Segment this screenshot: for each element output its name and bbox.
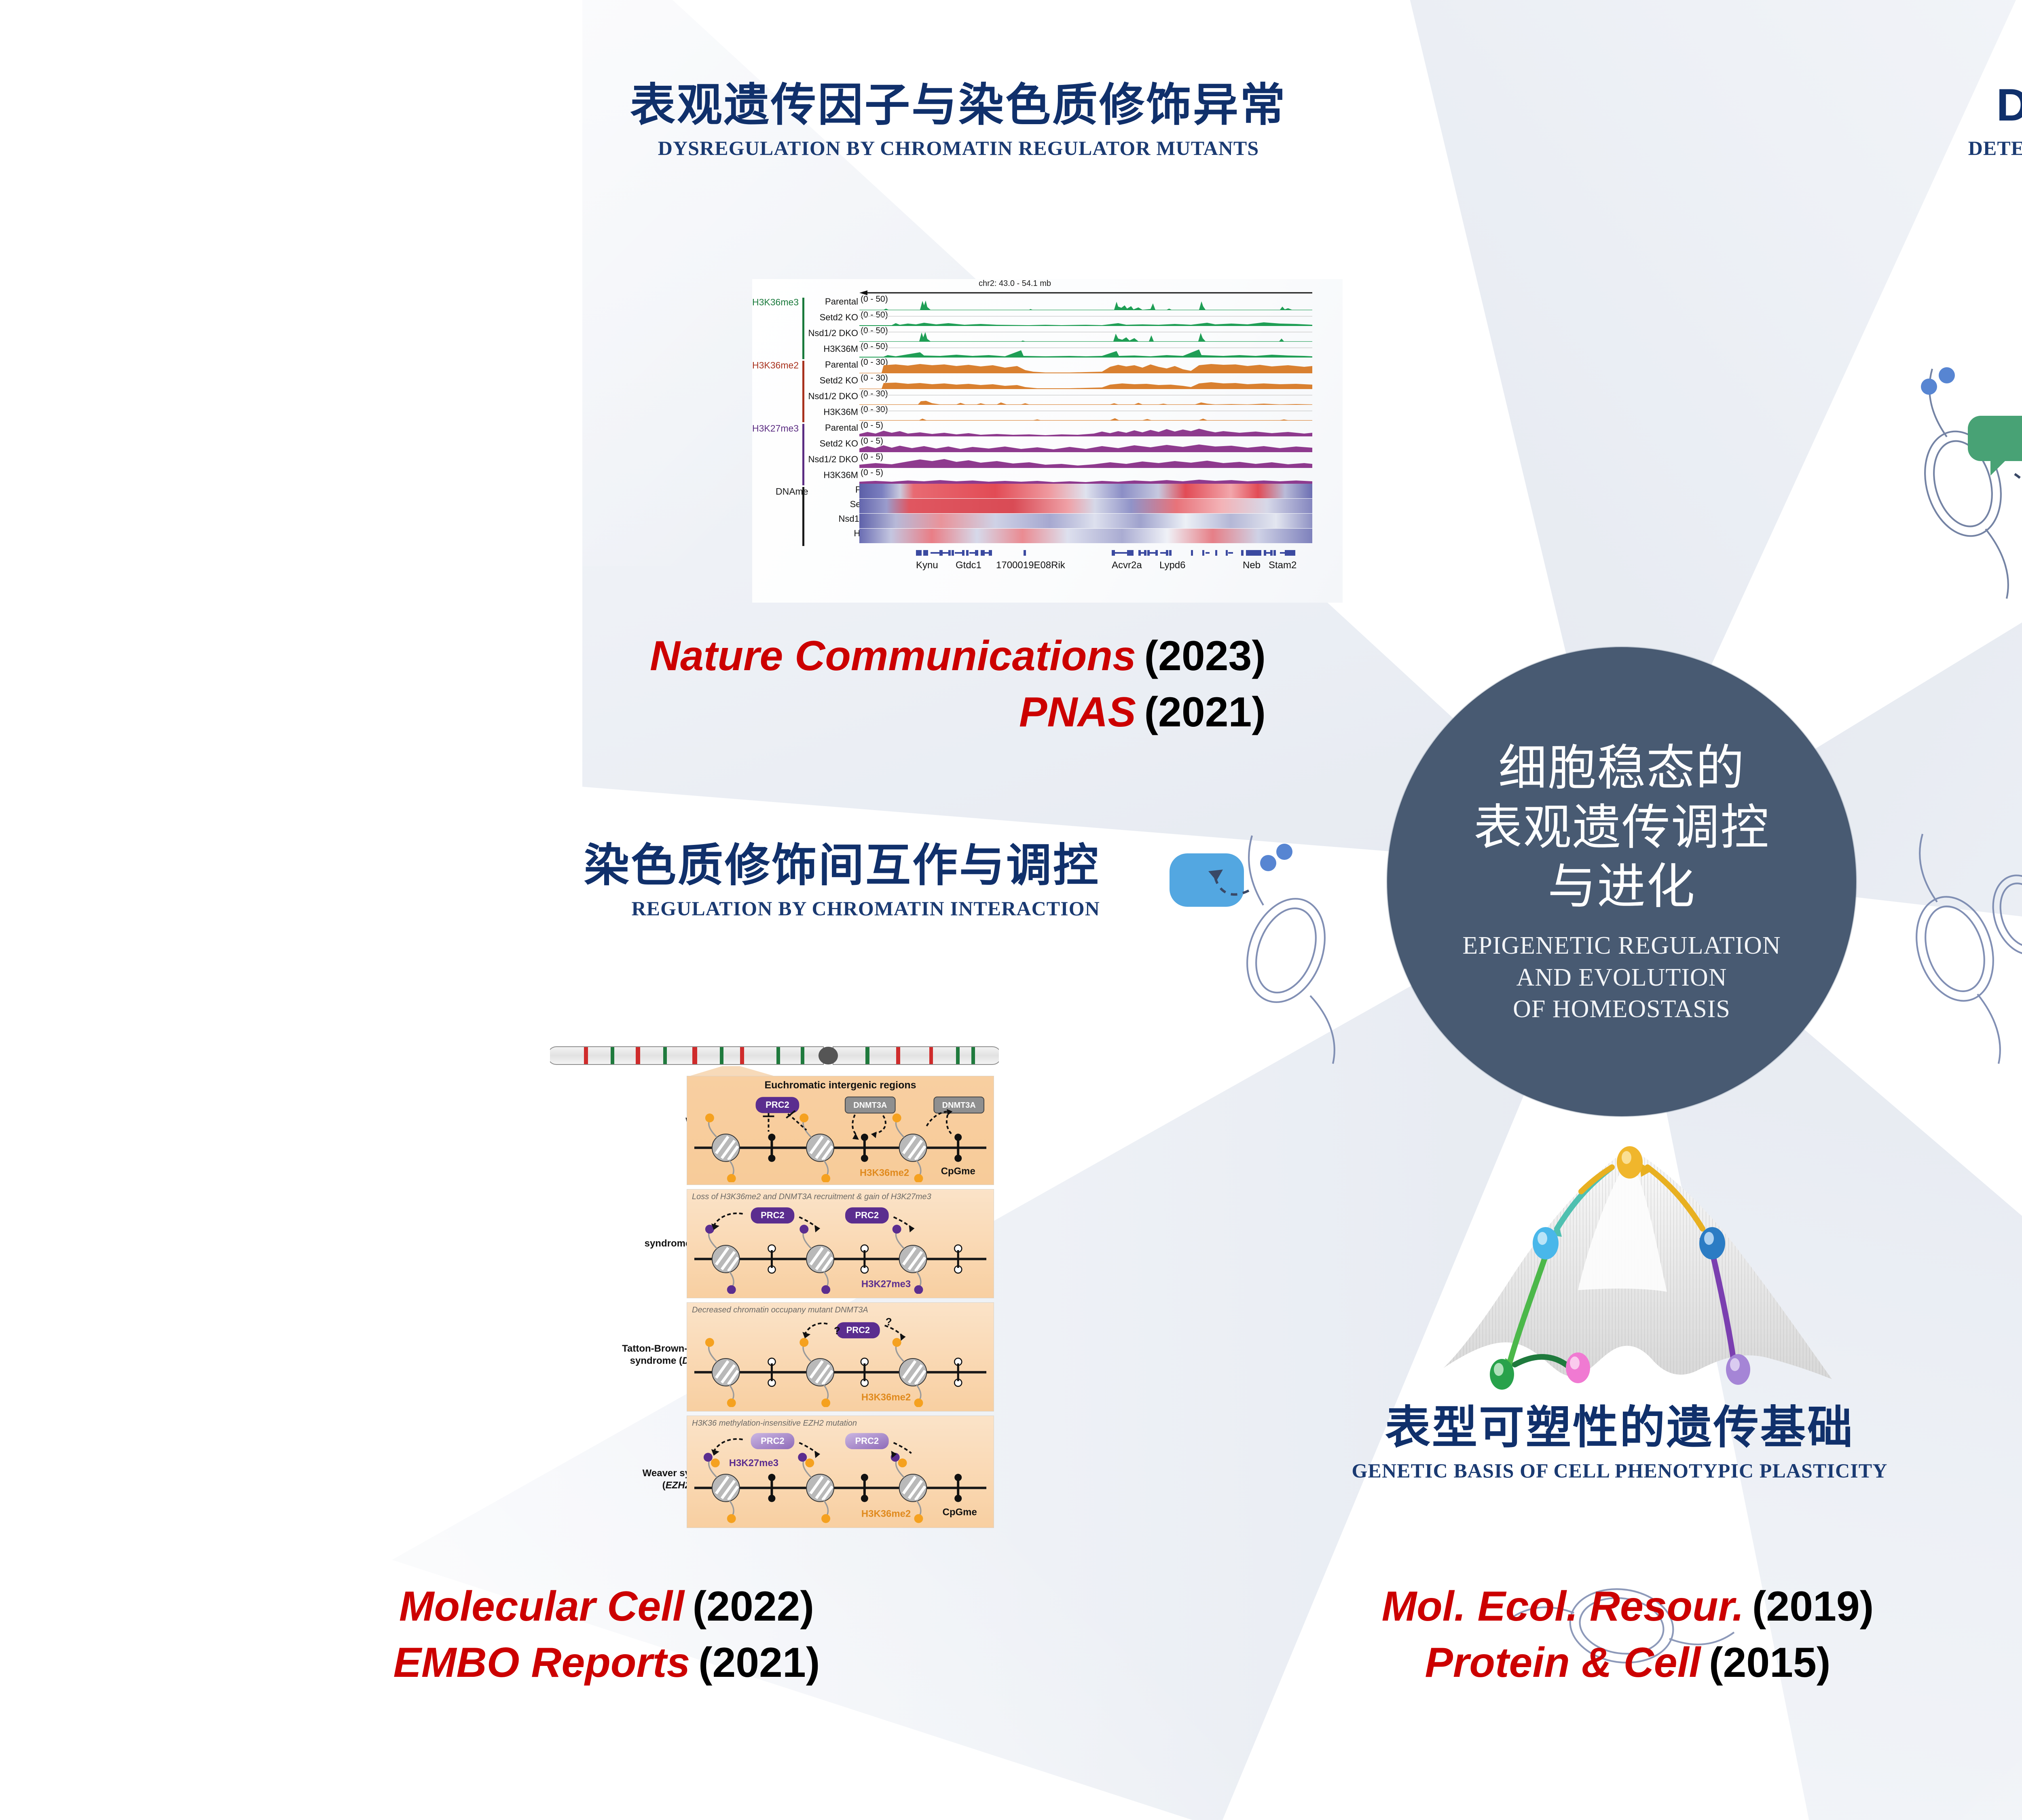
hub-title-en-line: AND EVOLUTION xyxy=(1462,962,1781,993)
track-signal xyxy=(859,473,1312,484)
section-subtitle-en: REGULATION BY CHROMATIN INTERACTION xyxy=(129,897,1100,920)
track-sample-label: Parental xyxy=(825,423,858,433)
track-signal xyxy=(859,300,1312,310)
panel-weaver: H3K36 methylation-insensitive EZH2 mutat… xyxy=(687,1416,994,1528)
citation-row: Nature Communications (2023) xyxy=(162,631,1266,681)
panel-sotos: Loss of H3K36me2 and DNMT3A recruitment … xyxy=(687,1189,994,1298)
svg-text:PRC2: PRC2 xyxy=(846,1325,870,1335)
tbrs-diagram: PRC2 ? ? H3K36me2 xyxy=(687,1315,994,1407)
track-signal xyxy=(859,315,1312,326)
section-heading-phenotypic-plasticity: 表型可塑性的遗传基础 GENETIC BASIS OF CELL PHENOTY… xyxy=(1165,1403,2022,1482)
row-label-text: ( xyxy=(662,1480,666,1491)
track-signal xyxy=(859,442,1312,452)
hub-title-en-line: EPIGENETIC REGULATION xyxy=(1462,930,1781,961)
wildtype-diagram: PRC2 DNMT3A DNMT3A xyxy=(687,1091,994,1182)
group-bracket xyxy=(802,487,804,546)
section-subtitle-en: DYSREGULATION BY CHROMATIN REGULATOR MUT… xyxy=(332,137,1585,159)
gene-name: Lypd6 xyxy=(1159,560,1186,571)
track-sample-label: Setd2 KO xyxy=(820,438,858,449)
group-label: H3K27me3 xyxy=(752,423,799,434)
sotos-diagram: PRC2 PRC2 H3K27me3 xyxy=(687,1202,994,1294)
svg-text:DNMT3A: DNMT3A xyxy=(853,1101,887,1110)
journal-year: (2019) xyxy=(1752,1583,1874,1630)
hub-title-zh: 细胞稳态的 表观遗传调控 与进化 xyxy=(1474,739,1770,916)
mark-label-cpgme: CpGme xyxy=(943,1507,977,1518)
journal-name: Protein & Cell xyxy=(1425,1639,1701,1686)
gene-name: Kynu xyxy=(916,560,938,571)
section-subtitle-en: DETERMINANTS OF GENOMIC DISTRIBUTION OF … xyxy=(1707,137,2022,159)
gene-name: 1700019E08Rik xyxy=(996,560,1065,571)
track-signal xyxy=(859,347,1312,358)
gene-name: Gtdc1 xyxy=(956,560,981,571)
track-signal xyxy=(859,394,1312,405)
track-row: H3K36M (0 - 50) xyxy=(859,342,1312,358)
poster-canvas: 细胞稳态的 表观遗传调控 与进化 EPIGENETIC REGULATION A… xyxy=(0,0,2022,1820)
journal-year: (2015) xyxy=(1709,1639,1831,1686)
track-row: Setd2 KO (0 - 5) xyxy=(859,436,1312,452)
track-row: Nsd1/2 DKO (0 - 5) xyxy=(859,452,1312,468)
journal-name: Molecular Cell xyxy=(399,1583,684,1630)
track-sample-label: Nsd1/2 DKO xyxy=(808,391,859,402)
landscape-diagram xyxy=(1395,1145,1864,1403)
svg-text:PRC2: PRC2 xyxy=(761,1436,785,1446)
track-signal xyxy=(859,363,1312,373)
track-signal xyxy=(859,457,1312,468)
journal-year: (2021) xyxy=(698,1639,820,1686)
weaver-diagram: PRC2 PRC2 H3K27me3 H3K36me2 CpGme xyxy=(687,1428,994,1524)
mark-label-h3k27me3: H3K27me3 xyxy=(861,1279,911,1290)
gene-model-track xyxy=(859,548,1312,558)
svg-text:PRC2: PRC2 xyxy=(766,1100,789,1110)
section-heading-chromatin-interaction: 染色质修饰间互作与调控 REGULATION BY CHROMATIN INTE… xyxy=(129,841,1100,920)
track-row: Setd2 KO (0 - 30) xyxy=(859,373,1312,389)
track-signal xyxy=(859,426,1312,436)
gene-name: Acvr2a xyxy=(1112,560,1142,571)
track-sample-label: Setd2 KO xyxy=(820,375,858,386)
hub-title-en-line: OF HOMEOSTASIS xyxy=(1462,993,1781,1025)
journal-year: (2023) xyxy=(1144,633,1266,679)
track-sample-label: Parental xyxy=(825,360,858,370)
track-row: H3K36M (0 - 5) xyxy=(859,468,1312,484)
citations-phenotypic-plasticity: Mol. Ecol. Resour. (2019) Protein & Cell… xyxy=(1193,1581,2022,1694)
track-row: Parental (0 - 5) xyxy=(859,421,1312,436)
genome-coordinates: chr2: 43.0 - 54.1 mb xyxy=(979,279,1051,288)
genome-browser-figure: chr2: 43.0 - 54.1 mb H3K36me3 H3K36me2 H… xyxy=(752,279,1343,603)
journal-name: Mol. Ecol. Resour. xyxy=(1382,1583,1744,1630)
group-bracket xyxy=(802,424,804,485)
svg-text:DNMT3A: DNMT3A xyxy=(942,1101,976,1110)
nucleosome-sketch-mid-left xyxy=(1165,821,1379,1072)
track-row: Setd2 KO (0 - 50) xyxy=(859,310,1312,326)
track-signal xyxy=(859,331,1312,342)
row-label-text: syndrome ( xyxy=(630,1355,682,1366)
citation-row: EMBO Reports (2021) xyxy=(202,1638,1011,1688)
track-signal xyxy=(859,410,1312,421)
group-label: H3K36me3 xyxy=(752,297,799,307)
citation-row: PNAS (2021) xyxy=(162,687,1266,738)
nucleosome-sketch-mid-right xyxy=(1864,821,2022,1072)
panel-tbrs: Decreased chromatin occupany mutant DNMT… xyxy=(687,1302,994,1412)
track-sample-label: Nsd1/2 DKO xyxy=(808,328,859,339)
journal-year: (2021) xyxy=(1144,689,1266,736)
center-hub: 细胞稳态的 表观遗传调控 与进化 EPIGENETIC REGULATION A… xyxy=(1387,647,1856,1116)
panel-wildtype: Euchromatic intergenic regions xyxy=(687,1076,994,1185)
journal-name: PNAS xyxy=(1019,689,1136,736)
hub-title-zh-line: 表观遗传调控 xyxy=(1474,798,1770,857)
chromosome-ideogram xyxy=(550,1043,999,1068)
svg-text:PRC2: PRC2 xyxy=(761,1210,785,1220)
track-sample-label: Setd2 KO xyxy=(820,312,858,323)
mark-label-h3k36me2: H3K36me2 xyxy=(861,1509,911,1519)
chromatin-syndrome-figure: Wildtype Euchromatic intergenic regions xyxy=(550,1043,1047,1549)
journal-year: (2022) xyxy=(692,1583,814,1630)
citation-row: Mol. Ecol. Resour. (2019) xyxy=(1193,1581,2022,1632)
track-signal xyxy=(859,379,1312,389)
gene-name: Neb xyxy=(1243,560,1261,571)
track-row: H3K36M (0 - 30) xyxy=(859,405,1312,421)
track-sample-label: H3K36M xyxy=(823,407,858,417)
panel-caption: Decreased chromatin occupany mutant DNMT… xyxy=(687,1303,994,1315)
track-row: Nsd1/2 DKO (0 - 30) xyxy=(859,389,1312,405)
citations-chromatin-interaction: Molecular Cell (2022) EMBO Reports (2021… xyxy=(202,1581,1011,1694)
mark-label-h3k36me2: H3K36me2 xyxy=(861,1392,911,1403)
hub-title-en: EPIGENETIC REGULATION AND EVOLUTION OF H… xyxy=(1462,930,1781,1024)
section-heading-dna-methylation: DNA甲基化修饰的分布决定因素 DETERMINANTS OF GENOMIC … xyxy=(1707,81,2022,159)
track-sample-label: H3K36M xyxy=(823,470,858,480)
genome-track-column: Parental (0 - 50) Setd2 KO (0 - 50) Nsd1… xyxy=(859,294,1312,484)
journal-name: EMBO Reports xyxy=(393,1639,690,1686)
nucleosome-sketch-top-right xyxy=(1872,356,2022,615)
group-bracket xyxy=(802,361,804,422)
track-sample-label: Parental xyxy=(825,296,858,307)
svg-text:?: ? xyxy=(886,1316,892,1328)
svg-text:PRC2: PRC2 xyxy=(855,1210,879,1220)
section-title-zh: 表型可塑性的遗传基础 xyxy=(1165,1403,2022,1452)
citations-dysregulation: Nature Communications (2023) PNAS (2021) xyxy=(162,631,1266,743)
journal-name: Nature Communications xyxy=(650,633,1136,679)
section-subtitle-en: GENETIC BASIS OF CELL PHENOTYPIC PLASTIC… xyxy=(1165,1460,2022,1482)
hub-title-zh-line: 与进化 xyxy=(1474,857,1770,916)
track-row: Nsd1/2 DKO (0 - 50) xyxy=(859,326,1312,342)
section-title-zh: 表观遗传因子与染色质修饰异常 xyxy=(332,81,1585,130)
mark-label-h3k36me2: H3K36me2 xyxy=(860,1168,909,1179)
panel-caption: Loss of H3K36me2 and DNMT3A recruitment … xyxy=(687,1189,994,1202)
ideogram-zoom-connector xyxy=(683,1066,776,1077)
panel-caption: H3K36 methylation-insensitive EZH2 mutat… xyxy=(687,1416,994,1428)
section-heading-dysregulation: 表观遗传因子与染色质修饰异常 DYSREGULATION BY CHROMATI… xyxy=(332,81,1585,159)
citation-row: Molecular Cell (2022) xyxy=(202,1581,1011,1632)
section-title-zh: DNA甲基化修饰的分布决定因素 xyxy=(1707,81,2022,130)
mark-label-h3k27me3: H3K27me3 xyxy=(729,1458,778,1469)
group-bracket xyxy=(802,298,804,359)
svg-text:PRC2: PRC2 xyxy=(855,1436,879,1446)
hub-title-zh-line: 细胞稳态的 xyxy=(1474,739,1770,798)
panel-title: Euchromatic intergenic regions xyxy=(687,1076,994,1091)
track-row: Parental (0 - 50) xyxy=(859,294,1312,310)
track-sample-label: H3K36M xyxy=(823,344,858,354)
section-title-zh: 染色质修饰间互作与调控 xyxy=(129,841,1100,890)
mark-label-cpgme: CpGme xyxy=(941,1166,975,1177)
group-label: H3K36me2 xyxy=(752,360,799,370)
track-row: Parental (0 - 30) xyxy=(859,358,1312,373)
track-sample-label: Nsd1/2 DKO xyxy=(808,454,859,465)
svg-text:?: ? xyxy=(834,1325,840,1337)
citation-row: Protein & Cell (2015) xyxy=(1193,1638,2022,1688)
dname-heatmap xyxy=(859,484,1312,545)
gene-name: Stam2 xyxy=(1269,560,1297,571)
track-group-DNAme: DNAme xyxy=(752,486,853,547)
gene-name-row: Kynu Gtdc1 1700019E08Rik Acvr2a Lypd6 Ne… xyxy=(859,560,1312,576)
waddington-landscape-figure xyxy=(1395,1145,1864,1403)
